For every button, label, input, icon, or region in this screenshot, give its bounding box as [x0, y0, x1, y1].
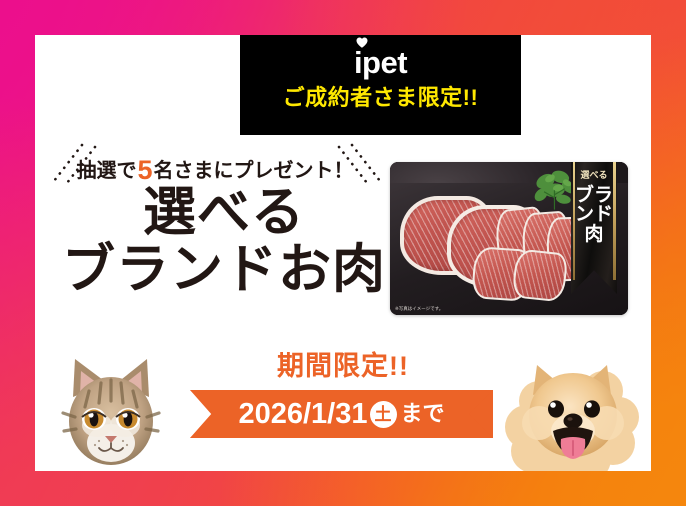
brand-meat-ribbon: 選べる ブランド 肉: [571, 162, 617, 294]
photo-disclaimer: ※写真はイメージです。: [395, 307, 443, 312]
header-black-box: ipet ご成約者さま限定!!: [240, 35, 521, 135]
period-limited-label: 期間限定!!: [35, 353, 651, 380]
ribbon-main-line2: 肉: [571, 225, 617, 244]
date-ribbon: 2026/1/31 土 まで: [190, 390, 493, 438]
ribbon-main-line1: ブランド: [571, 186, 617, 225]
campaign-lead-prefix: 抽選で: [76, 160, 136, 182]
campaign-lead-text: 抽選で5名さまにプレゼント！: [76, 154, 353, 186]
deadline-date: 2026/1/31: [238, 400, 367, 429]
beef-slice: [511, 248, 568, 302]
campaign-lead-row: 抽選で5名さまにプレゼント！: [35, 153, 395, 187]
white-content-card: ipet ご成約者さま限定!! 抽選で5名さまにプレゼント！ 選べる: [35, 35, 651, 471]
branded-beef-photo: ※写真はイメージです。 選べる ブランド 肉: [390, 162, 628, 315]
promotional-banner: ipet ご成約者さま限定!! 抽選で5名さまにプレゼント！ 選べる: [0, 0, 686, 506]
ipet-logo: ipet: [354, 47, 407, 78]
deadline-weekday-badge: 土: [370, 401, 397, 428]
campaign-title: 選べる ブランドお肉: [59, 185, 389, 297]
header-subtitle: ご成約者さま限定!!: [283, 87, 479, 109]
deadline-suffix: まで: [401, 403, 445, 425]
campaign-title-line2: ブランドお肉: [59, 242, 389, 297]
campaign-deadline: 2026/1/31 土 まで: [238, 400, 444, 429]
date-ribbon-inner: 2026/1/31 土 まで: [190, 390, 493, 438]
ribbon-small-text: 選べる: [571, 171, 617, 180]
campaign-title-line1: 選べる: [59, 185, 389, 240]
campaign-lead-suffix: 名さまにプレゼント！: [154, 160, 354, 182]
campaign-winner-count: 5: [136, 155, 153, 185]
ipet-logo-text: ipet: [354, 45, 407, 80]
ribbon-main-text: ブランド 肉: [571, 186, 617, 244]
heart-icon: [356, 37, 368, 48]
